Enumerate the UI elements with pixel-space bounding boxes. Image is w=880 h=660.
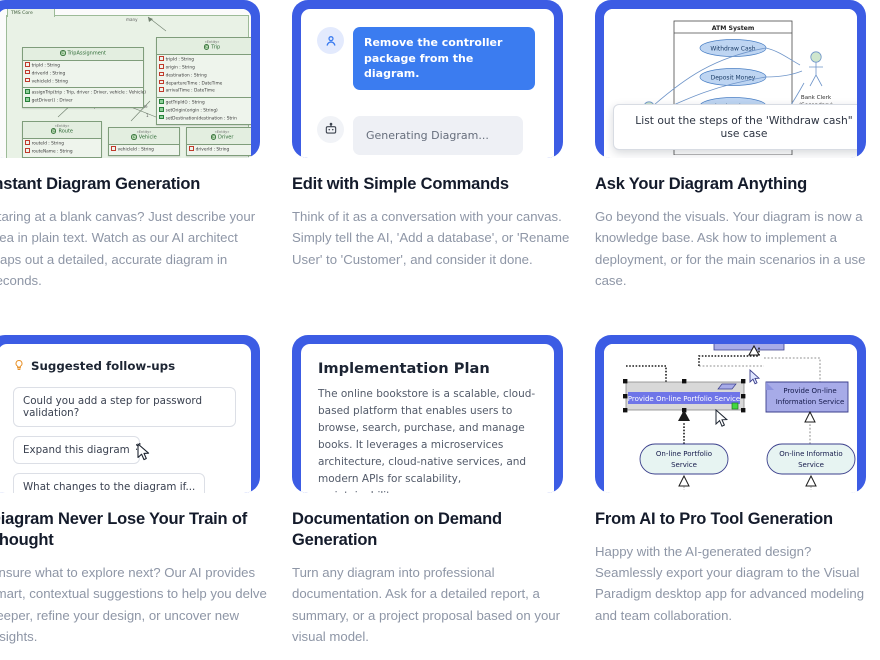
svg-text:Information Service: Information Service <box>776 398 845 406</box>
card-description: Think of it as a conversation with your … <box>292 206 575 270</box>
suggestions-heading-text: Suggested follow-ups <box>31 359 175 373</box>
svg-text:On-line Informatio: On-line Informatio <box>779 450 842 458</box>
card-caption: Edit with Simple Commands Think of it as… <box>292 158 585 270</box>
card-title: Edit with Simple Commands <box>292 174 575 195</box>
user-message-text: Remove the controller package from the d… <box>353 27 535 90</box>
class-header: «Entity» CVehicle <box>109 128 179 145</box>
edge-label-many: many <box>126 17 138 22</box>
attribute: origin : String <box>159 64 251 72</box>
visual-paradigm-canvas: Provide On-line Portfolio Service Pro <box>604 344 857 493</box>
card-media-uml-class-diagram[interactable]: TMS Core many parts use <box>0 0 260 158</box>
chat-message-user: Remove the controller package from the d… <box>317 27 538 90</box>
class-icon: C <box>211 134 217 140</box>
svg-text:On-line Portfolio: On-line Portfolio <box>656 450 712 458</box>
robot-icon <box>317 116 344 143</box>
class-header: «Entity» CRoute <box>23 122 101 139</box>
card-media-suggestions[interactable]: Suggested follow-ups Could you add a ste… <box>0 335 260 493</box>
attribute: vehicleId : String <box>25 78 141 86</box>
mouse-cursor-icon <box>136 443 153 465</box>
operation: setDestination(destination : Strin <box>159 115 251 123</box>
attribute: tripId : String <box>25 62 141 70</box>
suggestion-chip-what-changes[interactable]: What changes to the diagram if... <box>13 473 205 493</box>
document-title: Implementation Plan <box>318 360 537 377</box>
chat-thread: Remove the controller package from the d… <box>301 9 554 155</box>
attribute: driverId : String <box>25 70 141 78</box>
attribute: tripId : String <box>159 56 251 64</box>
chat-message-assistant: Generating Diagram... <box>317 116 538 155</box>
class-attributes: driverId : String <box>187 145 251 156</box>
operation: setOrigin(origin : String) <box>159 107 251 115</box>
class-icon: C <box>204 44 210 50</box>
card-description: Go beyond the visuals. Your diagram is n… <box>595 206 878 292</box>
operation: getDriver() : Driver <box>25 97 141 105</box>
user-icon <box>317 27 344 54</box>
feature-card-ask-diagram: ATM System Withdraw Cash Deposit Money C… <box>595 0 880 292</box>
svg-text:Provide On-line: Provide On-line <box>783 387 836 395</box>
class-attributes: vehicleId : String <box>109 145 179 156</box>
assistant-message-text: Generating Diagram... <box>353 116 523 155</box>
attribute: departureTime : DateTime <box>159 80 251 88</box>
feature-card-documentation: Implementation Plan The online bookstore… <box>292 335 585 648</box>
feature-card-follow-ups: Suggested follow-ups Could you add a ste… <box>0 335 282 648</box>
card-media-component-diagram[interactable]: Provide On-line Portfolio Service Pro <box>595 335 866 493</box>
card-caption: Ask Your Diagram Anything Go beyond the … <box>595 158 880 292</box>
uml-class-vehicle[interactable]: «Entity» CVehicle vehicleId : String <box>108 127 180 156</box>
svg-text:Provide On-line Portfolio Serv: Provide On-line Portfolio Service <box>628 395 740 403</box>
component-diagram-graphics: Provide On-line Portfolio Service Pro <box>604 344 857 490</box>
uml-class-driver[interactable]: «Entity» CDriver driverId : String <box>186 127 251 156</box>
class-operations: assignTrip(trip : Trip, driver : Driver,… <box>23 88 143 107</box>
suggestion-chip-password-validation[interactable]: Could you add a step for password valida… <box>13 387 236 427</box>
suggestions-panel: Suggested follow-ups Could you add a ste… <box>0 344 251 493</box>
use-case-canvas: ATM System Withdraw Cash Deposit Money C… <box>604 9 857 158</box>
class-header: «Entity» CTrip <box>157 38 251 55</box>
document-body: The online bookstore is a scalable, clou… <box>318 386 537 493</box>
uml-class-tripassignment[interactable]: CTripAssignment tripId : String driverId… <box>22 47 144 108</box>
class-icon: C <box>51 128 57 134</box>
class-icon: C <box>60 50 66 56</box>
ask-diagram-tooltip[interactable]: List out the steps of the 'Withdraw cash… <box>613 104 857 150</box>
uml-class-trip[interactable]: «Entity» CTrip tripId : String origin : … <box>156 37 251 125</box>
suggestions-heading: Suggested follow-ups <box>13 359 236 374</box>
suggestion-chip-expand-diagram[interactable]: Expand this diagram <box>13 436 140 464</box>
class-header: «Entity» CDriver <box>187 128 251 145</box>
card-caption: Instant Diagram Generation Staring at a … <box>0 158 282 292</box>
card-media-chat[interactable]: Remove the controller package from the d… <box>292 0 563 158</box>
svg-text:Service: Service <box>671 461 697 469</box>
card-description: Staring at a blank canvas? Just describe… <box>0 206 272 292</box>
feature-card-instant-diagram: TMS Core many parts use <box>0 0 282 292</box>
card-media-use-case-diagram[interactable]: ATM System Withdraw Cash Deposit Money C… <box>595 0 866 158</box>
card-description: Happy with the AI-generated design? Seam… <box>595 541 878 627</box>
edge-multiplicity-1: 1 <box>146 113 149 118</box>
class-name: Trip <box>211 44 220 50</box>
card-title: Diagram Never Lose Your Train of Thought <box>0 509 272 551</box>
class-header: CTripAssignment <box>23 48 143 61</box>
class-name: Vehicle <box>139 134 157 140</box>
class-attributes: tripId : String driverId : String vehicl… <box>23 61 143 88</box>
attribute: vehicleId : String <box>111 146 177 154</box>
operation: assignTrip(trip : Trip, driver : Driver,… <box>25 89 141 97</box>
attribute: routeName : String <box>25 148 99 156</box>
svg-text:Bank Clerk: Bank Clerk <box>801 95 832 101</box>
card-caption: From AI to Pro Tool Generation Happy wit… <box>595 493 880 627</box>
feature-card-pro-tool: Provide On-line Portfolio Service Pro <box>595 335 880 648</box>
document-preview: Implementation Plan The online bookstore… <box>301 344 554 493</box>
card-title: From AI to Pro Tool Generation <box>595 509 878 530</box>
uml-class-route[interactable]: «Entity» CRoute routeId : String routeNa… <box>22 121 102 158</box>
card-media-document[interactable]: Implementation Plan The online bookstore… <box>292 335 563 493</box>
svg-text:Service: Service <box>798 461 824 469</box>
card-title: Ask Your Diagram Anything <box>595 174 878 195</box>
card-caption: Documentation on Demand Generation Turn … <box>292 493 585 648</box>
lightbulb-icon <box>13 359 25 374</box>
card-description: Turn any diagram into professional docum… <box>292 562 575 648</box>
class-operations: getTripId() : String setOrigin(origin : … <box>157 98 251 124</box>
suggestion-chip-label: Expand this diagram <box>23 444 130 456</box>
class-name: TripAssignment <box>68 50 106 56</box>
attribute: routeId : String <box>25 140 99 148</box>
uml-canvas: TMS Core many parts use <box>0 9 251 158</box>
attribute: destination : String <box>159 72 251 80</box>
class-name: Driver <box>218 134 233 140</box>
class-name: Route <box>58 128 73 134</box>
card-title: Documentation on Demand Generation <box>292 509 575 551</box>
feature-card-grid: TMS Core many parts use <box>0 0 880 647</box>
card-description: Unsure what to explore next? Our AI prov… <box>0 562 272 648</box>
operation: getTripId() : String <box>159 99 251 107</box>
class-attributes: routeId : String routeName : String <box>23 139 101 158</box>
attribute: arrivalTime : DateTime <box>159 87 251 95</box>
class-icon: C <box>131 134 137 140</box>
card-caption: Diagram Never Lose Your Train of Thought… <box>0 493 282 648</box>
feature-card-edit-commands: Remove the controller package from the d… <box>292 0 585 292</box>
attribute: driverId : String <box>189 146 251 154</box>
svg-text:ATM System: ATM System <box>712 25 755 32</box>
class-attributes: tripId : String origin : String destinat… <box>157 55 251 98</box>
card-title: Instant Diagram Generation <box>0 174 272 195</box>
